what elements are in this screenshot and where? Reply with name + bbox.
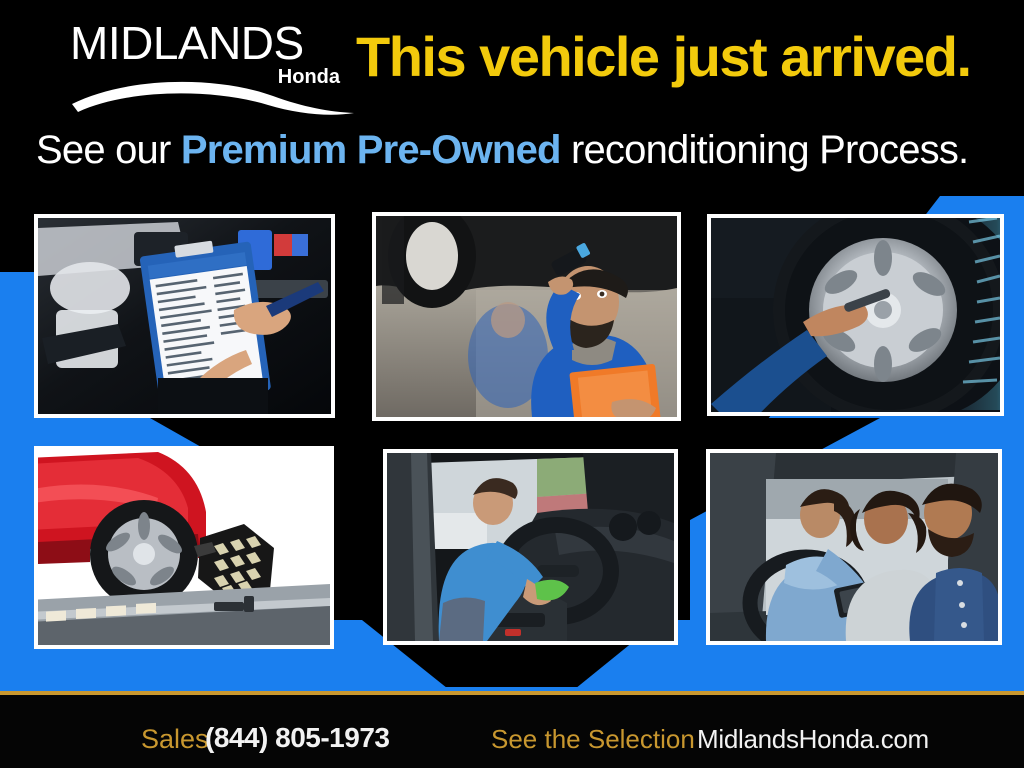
subhead-part2: reconditioning Process. xyxy=(561,128,969,172)
photo-customers-delivery xyxy=(706,449,1002,645)
swoosh-icon xyxy=(68,74,358,116)
black-mid-gap xyxy=(330,418,690,442)
headline-part2: just arrived. xyxy=(673,25,971,88)
header: MIDLANDS Honda This vehiclejust arrived.… xyxy=(0,0,1024,190)
subhead-highlight: Premium Pre-Owned xyxy=(181,128,561,172)
headline-part1: This vehicle xyxy=(356,25,659,88)
photo-inspection-checklist xyxy=(34,214,335,418)
subhead-part1: See our xyxy=(36,128,181,172)
photo-undercarriage-inspection xyxy=(372,212,681,421)
brand-logo[interactable]: MIDLANDS Honda xyxy=(70,18,350,102)
sales-label: Sales xyxy=(141,723,209,755)
photo-interior-detailing xyxy=(383,449,678,645)
photo-wheel-tire-service xyxy=(707,214,1004,416)
sales-phone[interactable]: (844) 805-1973 xyxy=(205,722,389,754)
photo-wheel-alignment xyxy=(34,446,334,649)
see-the-selection-label: See the Selection xyxy=(491,723,695,755)
website-link[interactable]: MidlandsHonda.com xyxy=(697,723,929,755)
page-title: This vehiclejust arrived. xyxy=(356,26,971,88)
logo-wordmark: MIDLANDS xyxy=(70,18,350,68)
subheadline: See our Premium Pre-Owned reconditioning… xyxy=(36,126,968,174)
ad-banner: MIDLANDS Honda This vehiclejust arrived.… xyxy=(0,0,1024,768)
